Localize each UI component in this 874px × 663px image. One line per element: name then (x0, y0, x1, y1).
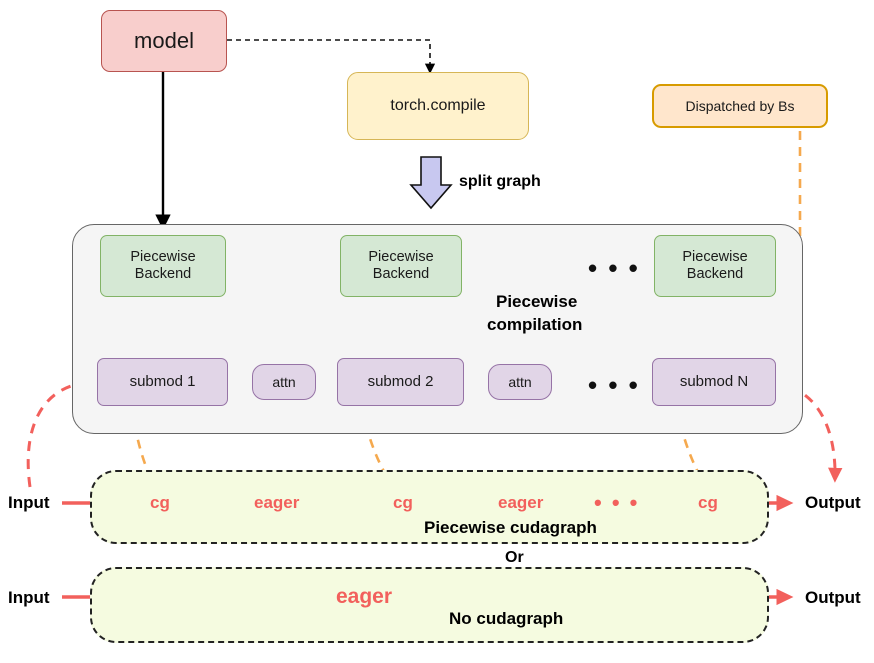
no-cudagraph-caption: No cudagraph (449, 609, 563, 629)
attn-label: attn (272, 374, 295, 391)
backend-label-line2: Backend (373, 266, 429, 283)
or-label: Or (505, 549, 524, 567)
lane1-step-ellipsis: • • • (594, 492, 639, 514)
torch-compile-box[interactable]: torch.compile (347, 72, 529, 140)
lane1-input-label: Input (8, 493, 50, 513)
piecewise-backend-box-2[interactable]: Piecewise Backend (340, 235, 462, 297)
backend-row-ellipsis: • • • (588, 255, 640, 281)
submod-label: submod N (680, 373, 748, 391)
lane1-step-eager-1: eager (254, 493, 299, 513)
backend-label-line1: Piecewise (368, 249, 433, 266)
piecewise-backend-box-n[interactable]: Piecewise Backend (654, 235, 776, 297)
lane2-output-label: Output (805, 588, 861, 608)
submod-label: submod 1 (130, 373, 196, 391)
lane1-step-cg-1: cg (150, 493, 170, 513)
split-graph-arrow (411, 157, 451, 208)
backend-label-line2: Backend (687, 266, 743, 283)
lane2-input-label: Input (8, 588, 50, 608)
piecewise-compilation-title-line2: compilation (487, 315, 582, 335)
dispatched-by-bs-label: Dispatched by Bs (686, 98, 795, 115)
piecewise-compilation-title-line1: Piecewise (496, 292, 577, 312)
no-cudagraph-lane (90, 567, 769, 643)
piecewise-cudagraph-caption: Piecewise cudagraph (424, 518, 597, 538)
backend-label-line1: Piecewise (682, 249, 747, 266)
lane1-output-label: Output (805, 493, 861, 513)
torch-compile-label: torch.compile (390, 97, 485, 116)
model-label: model (134, 28, 194, 54)
lane1-step-cg-n: cg (698, 493, 718, 513)
attn-box-2[interactable]: attn (488, 364, 552, 400)
dispatched-by-bs-box[interactable]: Dispatched by Bs (652, 84, 828, 128)
piecewise-backend-box-1[interactable]: Piecewise Backend (100, 235, 226, 297)
submod-row-ellipsis: • • • (588, 372, 640, 398)
submod-box-n[interactable]: submod N (652, 358, 776, 406)
attn-label: attn (508, 374, 531, 391)
submod-label: submod 2 (368, 373, 434, 391)
model-box[interactable]: model (101, 10, 227, 72)
attn-box-1[interactable]: attn (252, 364, 316, 400)
split-graph-label: split graph (459, 173, 541, 191)
edge-model-to-compile (227, 40, 430, 72)
backend-label-line2: Backend (135, 266, 191, 283)
lane1-step-cg-2: cg (393, 493, 413, 513)
submod-box-1[interactable]: submod 1 (97, 358, 228, 406)
diagram-canvas: model torch.compile Dispatched by Bs spl… (0, 0, 874, 663)
lane2-step-eager: eager (336, 585, 392, 609)
backend-label-line1: Piecewise (130, 249, 195, 266)
submod-box-2[interactable]: submod 2 (337, 358, 464, 406)
lane1-step-eager-2: eager (498, 493, 543, 513)
